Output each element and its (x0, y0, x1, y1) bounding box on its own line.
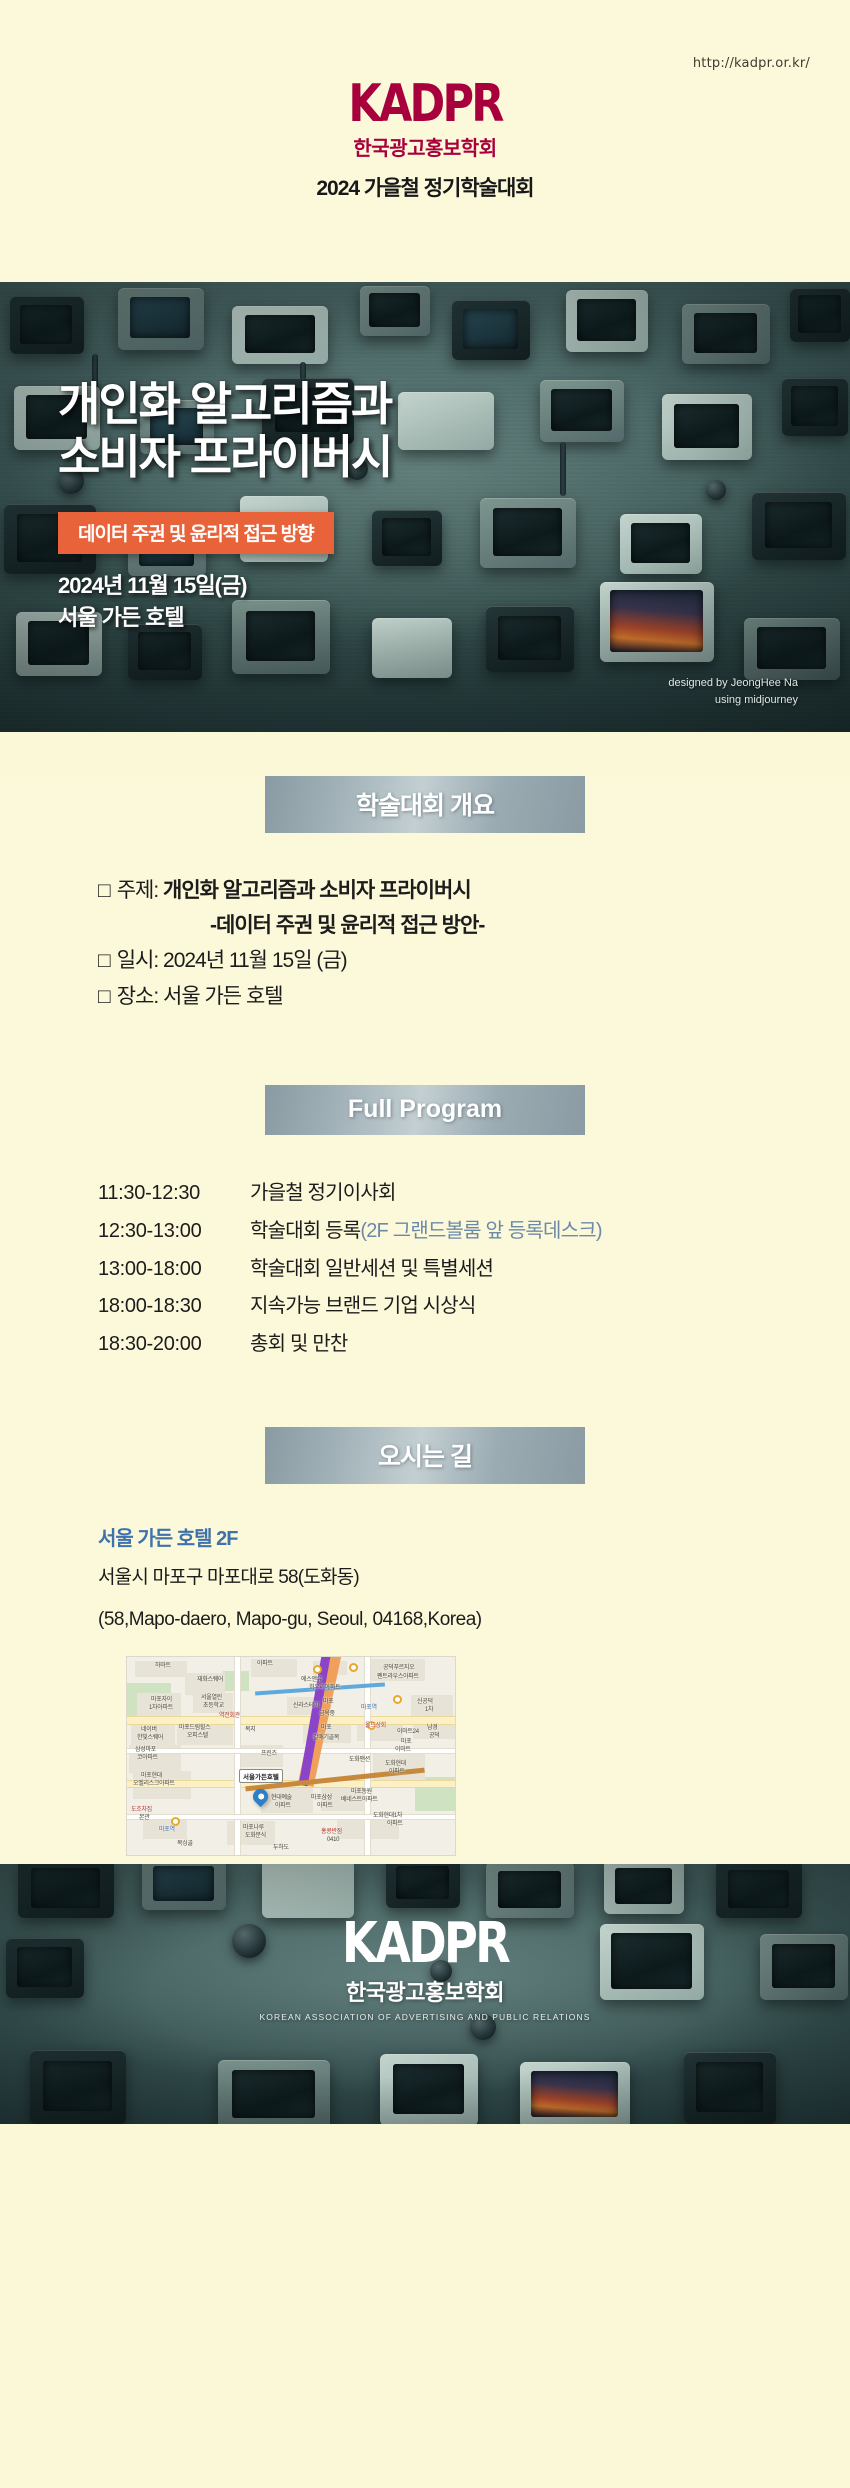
location-map[interactable]: 서울가든호텔 마포자이 1차아파트 하마트 아파트 재화스퀘어 에스앤유 희우리… (126, 1656, 456, 1856)
header-brand-block: KADPR 한국광고홍보학회 2024 가을철 정기학술대회 (0, 78, 850, 202)
poster-body: 학술대회 개요 □주제: 개인화 알고리즘과 소비자 프라이버시 -데이터 주권… (0, 776, 850, 1864)
credit-line-1: designed by JeongHee Na (668, 675, 798, 692)
overview-value-date: 2024년 11월 15일 (금) (163, 949, 347, 972)
hero-venue: 서울 가든 호텔 (58, 602, 247, 634)
program-title: 지속가능 브랜드 기업 시상식 (250, 1288, 475, 1326)
website-url[interactable]: http://kadpr.or.kr/ (693, 56, 810, 71)
program-row: 18:00-18:30 지속가능 브랜드 기업 시상식 (98, 1288, 770, 1326)
program-note: (2F 그랜드볼룸 앞 등록데스크) (360, 1213, 601, 1251)
overview-section: 학술대회 개요 □주제: 개인화 알고리즘과 소비자 프라이버시 -데이터 주권… (0, 776, 850, 1015)
program-title: 학술대회 등록 (250, 1213, 360, 1251)
conference-poster: http://kadpr.or.kr/ KADPR 한국광고홍보학회 2024 … (0, 0, 850, 2488)
program-time: 13:00-18:00 (98, 1251, 250, 1289)
hero-title: 개인화 알고리즘과 소비자 프라이버시 (58, 378, 391, 485)
program-time: 18:30-20:00 (98, 1326, 250, 1364)
event-title-line: 2024 가을철 정기학술대회 (0, 172, 850, 202)
checkbox-icon: □ (98, 949, 110, 972)
hero-date-venue: 2024년 11월 15일(금) 서울 가든 호텔 (58, 570, 247, 634)
overview-label-subject: 주제: (117, 879, 158, 902)
directions-section: 오시는 길 서울 가든 호텔 2F 서울시 마포구 마포대로 58(도화동) (… (0, 1427, 850, 1856)
program-title: 학술대회 일반세션 및 특별세션 (250, 1251, 493, 1289)
kadpr-logo-text-footer: KADPR (342, 1911, 508, 1976)
overview-label-place: 장소: (117, 985, 158, 1008)
hero-text-overlay: 개인화 알고리즘과 소비자 프라이버시 데이터 주권 및 윤리적 접근 방향 2… (0, 282, 850, 732)
program-section: Full Program 11:30-12:30 가을철 정기이사회 12:30… (0, 1085, 850, 1363)
association-name-ko-footer: 한국광고홍보학회 (0, 1975, 850, 2007)
hero-section: 개인화 알고리즘과 소비자 프라이버시 데이터 주권 및 윤리적 접근 방향 2… (0, 282, 850, 732)
overview-row-subject: □주제: 개인화 알고리즘과 소비자 프라이버시 (98, 873, 770, 909)
program-time: 18:00-18:30 (98, 1288, 250, 1326)
program-title: 가을철 정기이사회 (250, 1175, 396, 1213)
directions-address-ko: 서울시 마포구 마포대로 58(도화동) (98, 1563, 770, 1592)
overview-list: □주제: 개인화 알고리즘과 소비자 프라이버시 -데이터 주권 및 윤리적 접… (80, 873, 770, 1015)
overview-value-place: 서울 가든 호텔 (163, 985, 283, 1008)
credit-line-2: using midjourney (668, 692, 798, 709)
overview-heading: 학술대회 개요 (265, 776, 585, 833)
overview-value-subject: 개인화 알고리즘과 소비자 프라이버시 (163, 879, 471, 902)
overview-label-date: 일시: (117, 949, 158, 972)
footer-brand-block: KADPR 한국광고홍보학회 KOREAN ASSOCIATION OF ADV… (0, 1916, 850, 2022)
hero-date: 2024년 11월 15일(금) (58, 570, 247, 602)
program-row: 11:30-12:30 가을철 정기이사회 (98, 1175, 770, 1213)
program-time: 12:30-13:00 (98, 1213, 250, 1251)
overview-row-place: □장소: 서울 가든 호텔 (98, 979, 770, 1015)
hero-title-line1: 개인화 알고리즘과 (58, 378, 391, 431)
association-name-en-footer: KOREAN ASSOCIATION OF ADVERTISING AND PU… (0, 2012, 850, 2022)
kadpr-logo: KADPR (34, 78, 816, 130)
directions-venue: 서울 가든 호텔 2F (98, 1522, 770, 1551)
checkbox-icon: □ (98, 879, 110, 902)
hero-subtitle-badge: 데이터 주권 및 윤리적 접근 방향 (58, 512, 334, 554)
designer-credit: designed by JeongHee Na using midjourney (668, 675, 798, 708)
program-row: 13:00-18:00 학술대회 일반세션 및 특별세션 (98, 1251, 770, 1289)
directions-heading: 오시는 길 (265, 1427, 585, 1484)
program-list: 11:30-12:30 가을철 정기이사회 12:30-13:00 학술대회 등… (80, 1175, 770, 1363)
map-poi-hotel: 서울가든호텔 (239, 1769, 283, 1783)
checkbox-icon: □ (98, 985, 110, 1008)
overview-subject-subtitle: -데이터 주권 및 윤리적 접근 방안- (98, 909, 770, 943)
association-name-ko: 한국광고홍보학회 (0, 132, 850, 161)
overview-row-date: □일시: 2024년 11월 15일 (금) (98, 943, 770, 979)
program-row: 12:30-13:00 학술대회 등록 (2F 그랜드볼룸 앞 등록데스크) (98, 1213, 770, 1251)
program-title: 총회 및 만찬 (250, 1326, 348, 1364)
program-heading: Full Program (265, 1085, 585, 1135)
directions-body: 서울 가든 호텔 2F 서울시 마포구 마포대로 58(도화동) (58,Map… (80, 1522, 770, 1856)
kadpr-logo-footer: KADPR (34, 1916, 816, 1972)
program-row: 18:30-20:00 총회 및 만찬 (98, 1326, 770, 1364)
program-time: 11:30-12:30 (98, 1175, 250, 1213)
poster-footer: KADPR 한국광고홍보학회 KOREAN ASSOCIATION OF ADV… (0, 1864, 850, 2124)
poster-header: http://kadpr.or.kr/ KADPR 한국광고홍보학회 2024 … (0, 0, 850, 282)
directions-address-en: (58,Mapo-daero, Mapo-gu, Seoul, 04168,Ko… (98, 1605, 770, 1634)
hero-title-line2: 소비자 프라이버시 (58, 431, 391, 484)
kadpr-logo-text: KADPR (348, 74, 501, 134)
